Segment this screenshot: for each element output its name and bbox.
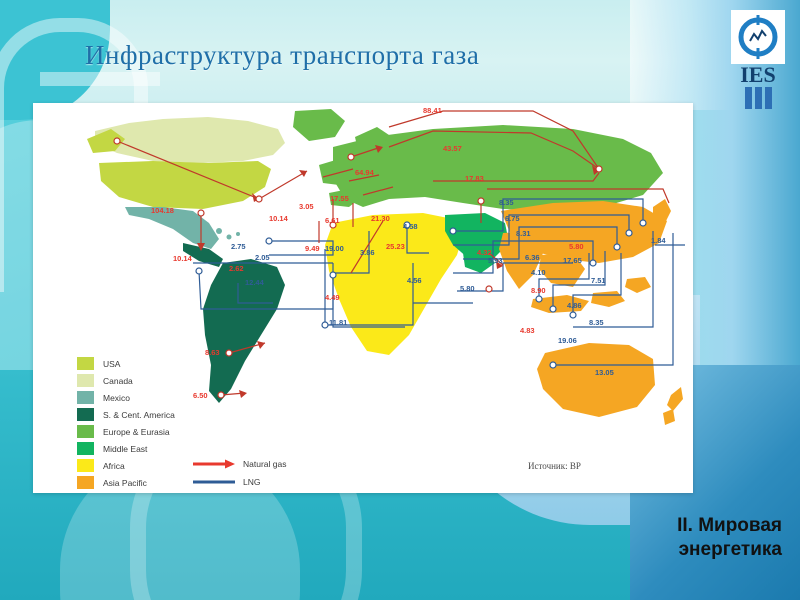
legend-label: Europe & Eurasia [103, 427, 170, 437]
legend-label: Mexico [103, 393, 130, 403]
flow-label: 21.30 [371, 214, 390, 223]
circle-chart-logo-icon [731, 10, 785, 64]
flow-label: 104.18 [151, 206, 174, 215]
legend-item: Middle East [77, 440, 175, 457]
flow-label: 2.62 [229, 264, 244, 273]
flow-label: 17.83 [465, 174, 484, 183]
flow-label: 4.58 [403, 222, 418, 231]
flow-label: 3.05 [299, 202, 314, 211]
legend-swatch [77, 425, 94, 438]
flow-label: 9.49 [305, 244, 320, 253]
flow-label: 12.44 [245, 278, 265, 287]
flow-label: 88.41 [423, 106, 442, 115]
natural-gas-arrow-icon [193, 459, 235, 469]
flow-label: 6.50 [193, 391, 208, 400]
map-card: 104.18 10.14 10.14 88.41 43.57 64.94 17.… [33, 103, 693, 493]
legend-swatch [77, 408, 94, 421]
flow-label: 8.35 [589, 318, 604, 327]
legend-label: Africa [103, 461, 125, 471]
flow-label: 4.86 [567, 301, 582, 310]
legend-item: USA [77, 355, 175, 372]
legend-item: S. & Cent. America [77, 406, 175, 423]
legend-label: Canada [103, 376, 133, 386]
flow-label: 6.75 [505, 214, 520, 223]
footer-line-1: II. Мировая [582, 514, 782, 538]
section-footer: II. Мировая энергетика [582, 514, 782, 562]
legend-swatch [77, 476, 94, 489]
legend-swatch [77, 357, 94, 370]
flow-label: 25.23 [386, 242, 405, 251]
flow-label: 64.94 [355, 168, 375, 177]
flow-label: 10.14 [269, 214, 289, 223]
flow-label: 6.61 [325, 216, 340, 225]
legend-label: Middle East [103, 444, 147, 454]
flow-label: 8.63 [205, 348, 220, 357]
flow-label: 11.81 [329, 318, 347, 327]
flow-label: 1.84 [651, 236, 666, 245]
legend-item-lng: LNG [193, 473, 286, 491]
source-note: Источник: BP [528, 461, 581, 471]
legend-item: Mexico [77, 389, 175, 406]
flow-label: 8.90 [531, 286, 546, 295]
flow-label: 7.51 [591, 276, 606, 285]
flow-label: 5.93 [488, 256, 503, 265]
legend-label: USA [103, 359, 120, 369]
flow-label: 4.49 [325, 293, 340, 302]
flow-label: 3.86 [360, 248, 375, 257]
flow-label: 13.05 [595, 368, 614, 377]
flow-label: 17.55 [330, 194, 349, 203]
legend-swatch [77, 459, 94, 472]
legend-label: Natural gas [243, 459, 286, 469]
flow-label: 4.83 [520, 326, 535, 335]
legend-swatch [77, 391, 94, 404]
flow-label: 5.80 [460, 284, 475, 293]
legend-item: Africa [77, 457, 175, 474]
legend-label: LNG [243, 477, 260, 487]
map-flow-legend: Natural gas LNG [193, 455, 286, 491]
flow-label: 5.80 [569, 242, 584, 251]
legend-item: Asia Pacific [77, 474, 175, 491]
legend-item-natural-gas: Natural gas [193, 455, 286, 473]
flow-label: 8.31 [516, 229, 531, 238]
flow-label: 43.57 [443, 144, 462, 153]
flow-label: 4.56 [407, 276, 422, 285]
background-bar-shape [40, 72, 160, 86]
logo-text: IES [724, 65, 792, 85]
flow-label: 8.35 [499, 198, 514, 207]
lng-line-icon [193, 477, 235, 487]
flow-label: 2.05 [255, 253, 270, 262]
flow-label: 10.14 [173, 254, 193, 263]
footer-line-2: энергетика [582, 538, 782, 562]
page-title: Инфраструктура транспорта газа [85, 40, 625, 71]
logo-bars-icon [724, 87, 792, 109]
legend-label: S. & Cent. America [103, 410, 175, 420]
flow-label: 19.00 [325, 244, 344, 253]
legend-item: Canada [77, 372, 175, 389]
legend-swatch [77, 374, 94, 387]
flow-label: 2.75 [231, 242, 246, 251]
map-region-legend: USA Canada Mexico S. & Cent. America Eur… [77, 355, 175, 491]
flow-label: 17.65 [563, 256, 582, 265]
flow-label: 4.10 [531, 268, 546, 277]
flow-label: 6.36 [525, 253, 540, 262]
ies-logo: IES [724, 10, 792, 106]
legend-item: Europe & Eurasia [77, 423, 175, 440]
legend-swatch [77, 442, 94, 455]
legend-label: Asia Pacific [103, 478, 147, 488]
flow-label: 19.06 [558, 336, 577, 345]
